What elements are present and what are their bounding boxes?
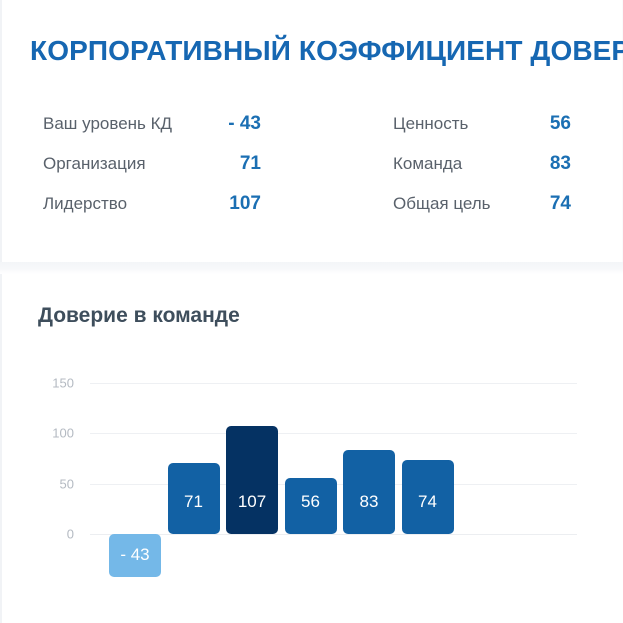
stat-label: Ценность	[393, 114, 468, 134]
card-divider	[0, 262, 623, 274]
stat-value: 71	[230, 153, 261, 175]
stat-row: Общая цель 74	[393, 193, 571, 233]
stat-label: Команда	[393, 154, 462, 174]
stat-row: Команда 83	[393, 153, 571, 193]
stat-value: 56	[540, 113, 571, 135]
bar-value-label: 56	[285, 492, 337, 512]
stat-value: 83	[540, 153, 571, 175]
chart-bar[interactable]: 83	[343, 450, 395, 534]
chart-bars: - 4371107568374	[2, 274, 623, 623]
chart-bar[interactable]: 71	[168, 463, 220, 534]
bar-chart: 150100500 - 4371107568374	[2, 274, 623, 623]
summary-card: КОРПОРАТИВНЫЙ КОЭФФИЦИЕНТ ДОВЕРИЯ Ваш ур…	[0, 0, 623, 262]
stats-column-right: Ценность 56 Команда 83 Общая цель 74	[313, 113, 623, 233]
bar-value-label: 107	[226, 492, 278, 512]
stat-label: Ваш уровень КД	[43, 114, 172, 134]
bar-value-label: 71	[168, 492, 220, 512]
stat-row: Лидерство 107	[43, 193, 261, 233]
stat-row: Ценность 56	[393, 113, 571, 153]
stat-value: - 43	[218, 113, 261, 135]
page-title: КОРПОРАТИВНЫЙ КОЭФФИЦИЕНТ ДОВЕРИЯ	[30, 33, 623, 69]
bar-value-label: 83	[343, 492, 395, 512]
stat-label: Общая цель	[393, 194, 491, 214]
chart-bar[interactable]: - 43	[109, 534, 161, 577]
stat-value: 107	[219, 193, 261, 215]
stat-row: Ваш уровень КД - 43	[43, 113, 261, 153]
chart-bar[interactable]: 74	[402, 460, 454, 534]
stats-grid: Ваш уровень КД - 43 Организация 71 Лидер…	[2, 113, 623, 233]
stat-value: 74	[540, 193, 571, 215]
chart-bar[interactable]: 56	[285, 478, 337, 534]
stats-column-left: Ваш уровень КД - 43 Организация 71 Лидер…	[2, 113, 313, 233]
chart-bar[interactable]: 107	[226, 426, 278, 534]
stat-row: Организация 71	[43, 153, 261, 193]
bar-value-label: - 43	[109, 545, 161, 565]
stat-label: Лидерство	[43, 194, 127, 214]
stat-label: Организация	[43, 154, 146, 174]
bar-value-label: 74	[402, 492, 454, 512]
chart-card: Доверие в команде 150100500 - 4371107568…	[0, 274, 623, 623]
